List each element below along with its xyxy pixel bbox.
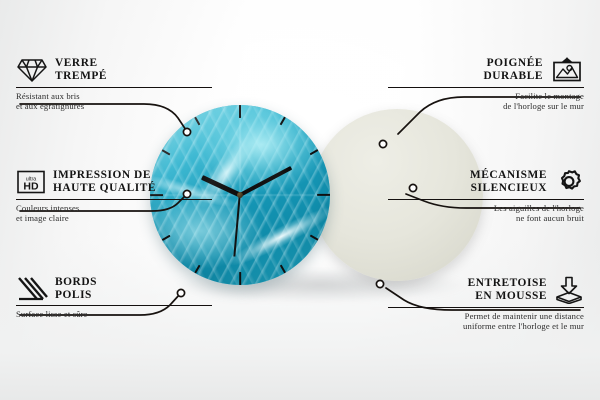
feature-description: Surface lisse et sûre [16,309,212,319]
feature-title-line2: SILENCIEUX [470,182,547,195]
feature-desc-line2: uniforme entre l'horloge et le mur [388,321,584,331]
feature-title: ENTRETOISE EN MOUSSE [468,277,547,302]
feature-title-line1: POIGNÉE [483,57,543,70]
feature-divider [388,199,584,200]
feature-divider [16,305,212,306]
arrow-down-layers-icon [554,276,584,304]
feature-header: MÉCANISME SILENCIEUX [388,168,584,196]
feature-mecanisme-silencieux[interactable]: MÉCANISME SILENCIEUX Les aiguilles de l'… [388,168,584,224]
feature-entretoise-en-mousse[interactable]: ENTRETOISE EN MOUSSE Permet de maintenir… [388,276,584,332]
feature-title-line1: BORDS [55,276,97,289]
feature-description: Couleurs intenses et image claire [16,203,212,224]
feature-title-line1: VERRE [55,57,107,70]
feature-desc-line1: Facilite le montage [388,91,584,101]
gear-icon [554,168,584,196]
feature-desc-line2: ne font aucun bruit [388,213,584,223]
feature-title: VERRE TREMPÉ [55,57,107,82]
feature-description: Les aiguilles de l'horloge ne font aucun… [388,203,584,224]
feature-title: MÉCANISME SILENCIEUX [470,169,547,194]
hanging-picture-icon [550,56,584,84]
feature-desc-line1: Permet de maintenir une distance [388,311,584,321]
feature-header: VERRE TREMPÉ [16,56,212,84]
feature-header: ENTRETOISE EN MOUSSE [388,276,584,304]
feature-title-line1: ENTRETOISE [468,277,547,290]
feature-title: BORDS POLIS [55,276,97,301]
feature-verre-trempe[interactable]: VERRE TREMPÉ Résistant aux bris et aux é… [16,56,212,112]
diamond-icon [16,56,48,84]
feature-desc-line1: Résistant aux bris [16,91,212,101]
feature-title-line2: HAUTE QUALITÉ [53,182,156,195]
feature-title-line2: TREMPÉ [55,70,107,83]
feature-bords-polis[interactable]: BORDS POLIS Surface lisse et sûre [16,276,212,319]
feature-description: Facilite le montage de l'horloge sur le … [388,91,584,112]
feature-desc-line1: Les aiguilles de l'horloge [388,203,584,213]
feature-desc-line1: Surface lisse et sûre [16,309,212,319]
ultra-hd-badge-icon: ultra HD [16,168,46,196]
feature-header: POIGNÉE DURABLE [388,56,584,84]
feature-header: BORDS POLIS [16,276,212,302]
feature-poignee-durable[interactable]: POIGNÉE DURABLE Facilite le montage de l… [388,56,584,112]
feature-title-line1: IMPRESSION DE [53,169,156,182]
callout-dot-verre [183,128,190,135]
callout-dot-poignee [379,140,386,147]
callout-dot-entretoise [376,280,383,287]
feature-desc-line2: et image claire [16,213,212,223]
feature-description: Résistant aux bris et aux égratignures [16,91,212,112]
product-infographic: VERRE TREMPÉ Résistant aux bris et aux é… [0,0,600,400]
badge-large-text: HD [23,180,39,192]
feature-title-line2: EN MOUSSE [468,290,547,303]
feature-divider [388,87,584,88]
feature-divider [16,87,212,88]
feature-desc-line2: et aux égratignures [16,101,212,111]
feature-header: ultra HD IMPRESSION DE HAUTE QUALITÉ [16,168,212,196]
feature-desc-line1: Couleurs intenses [16,203,212,213]
feature-title: IMPRESSION DE HAUTE QUALITÉ [53,169,156,194]
feature-title: POIGNÉE DURABLE [483,57,543,82]
feature-title-line2: POLIS [55,289,97,302]
feature-divider [16,199,212,200]
feature-description: Permet de maintenir une distance uniform… [388,311,584,332]
feature-divider [388,307,584,308]
feature-impression-haute-qualite[interactable]: ultra HD IMPRESSION DE HAUTE QUALITÉ Cou… [16,168,212,224]
feature-desc-line2: de l'horloge sur le mur [388,101,584,111]
feature-title-line2: DURABLE [483,70,543,83]
feature-title-line1: MÉCANISME [470,169,547,182]
diagonal-lines-icon [16,276,48,302]
